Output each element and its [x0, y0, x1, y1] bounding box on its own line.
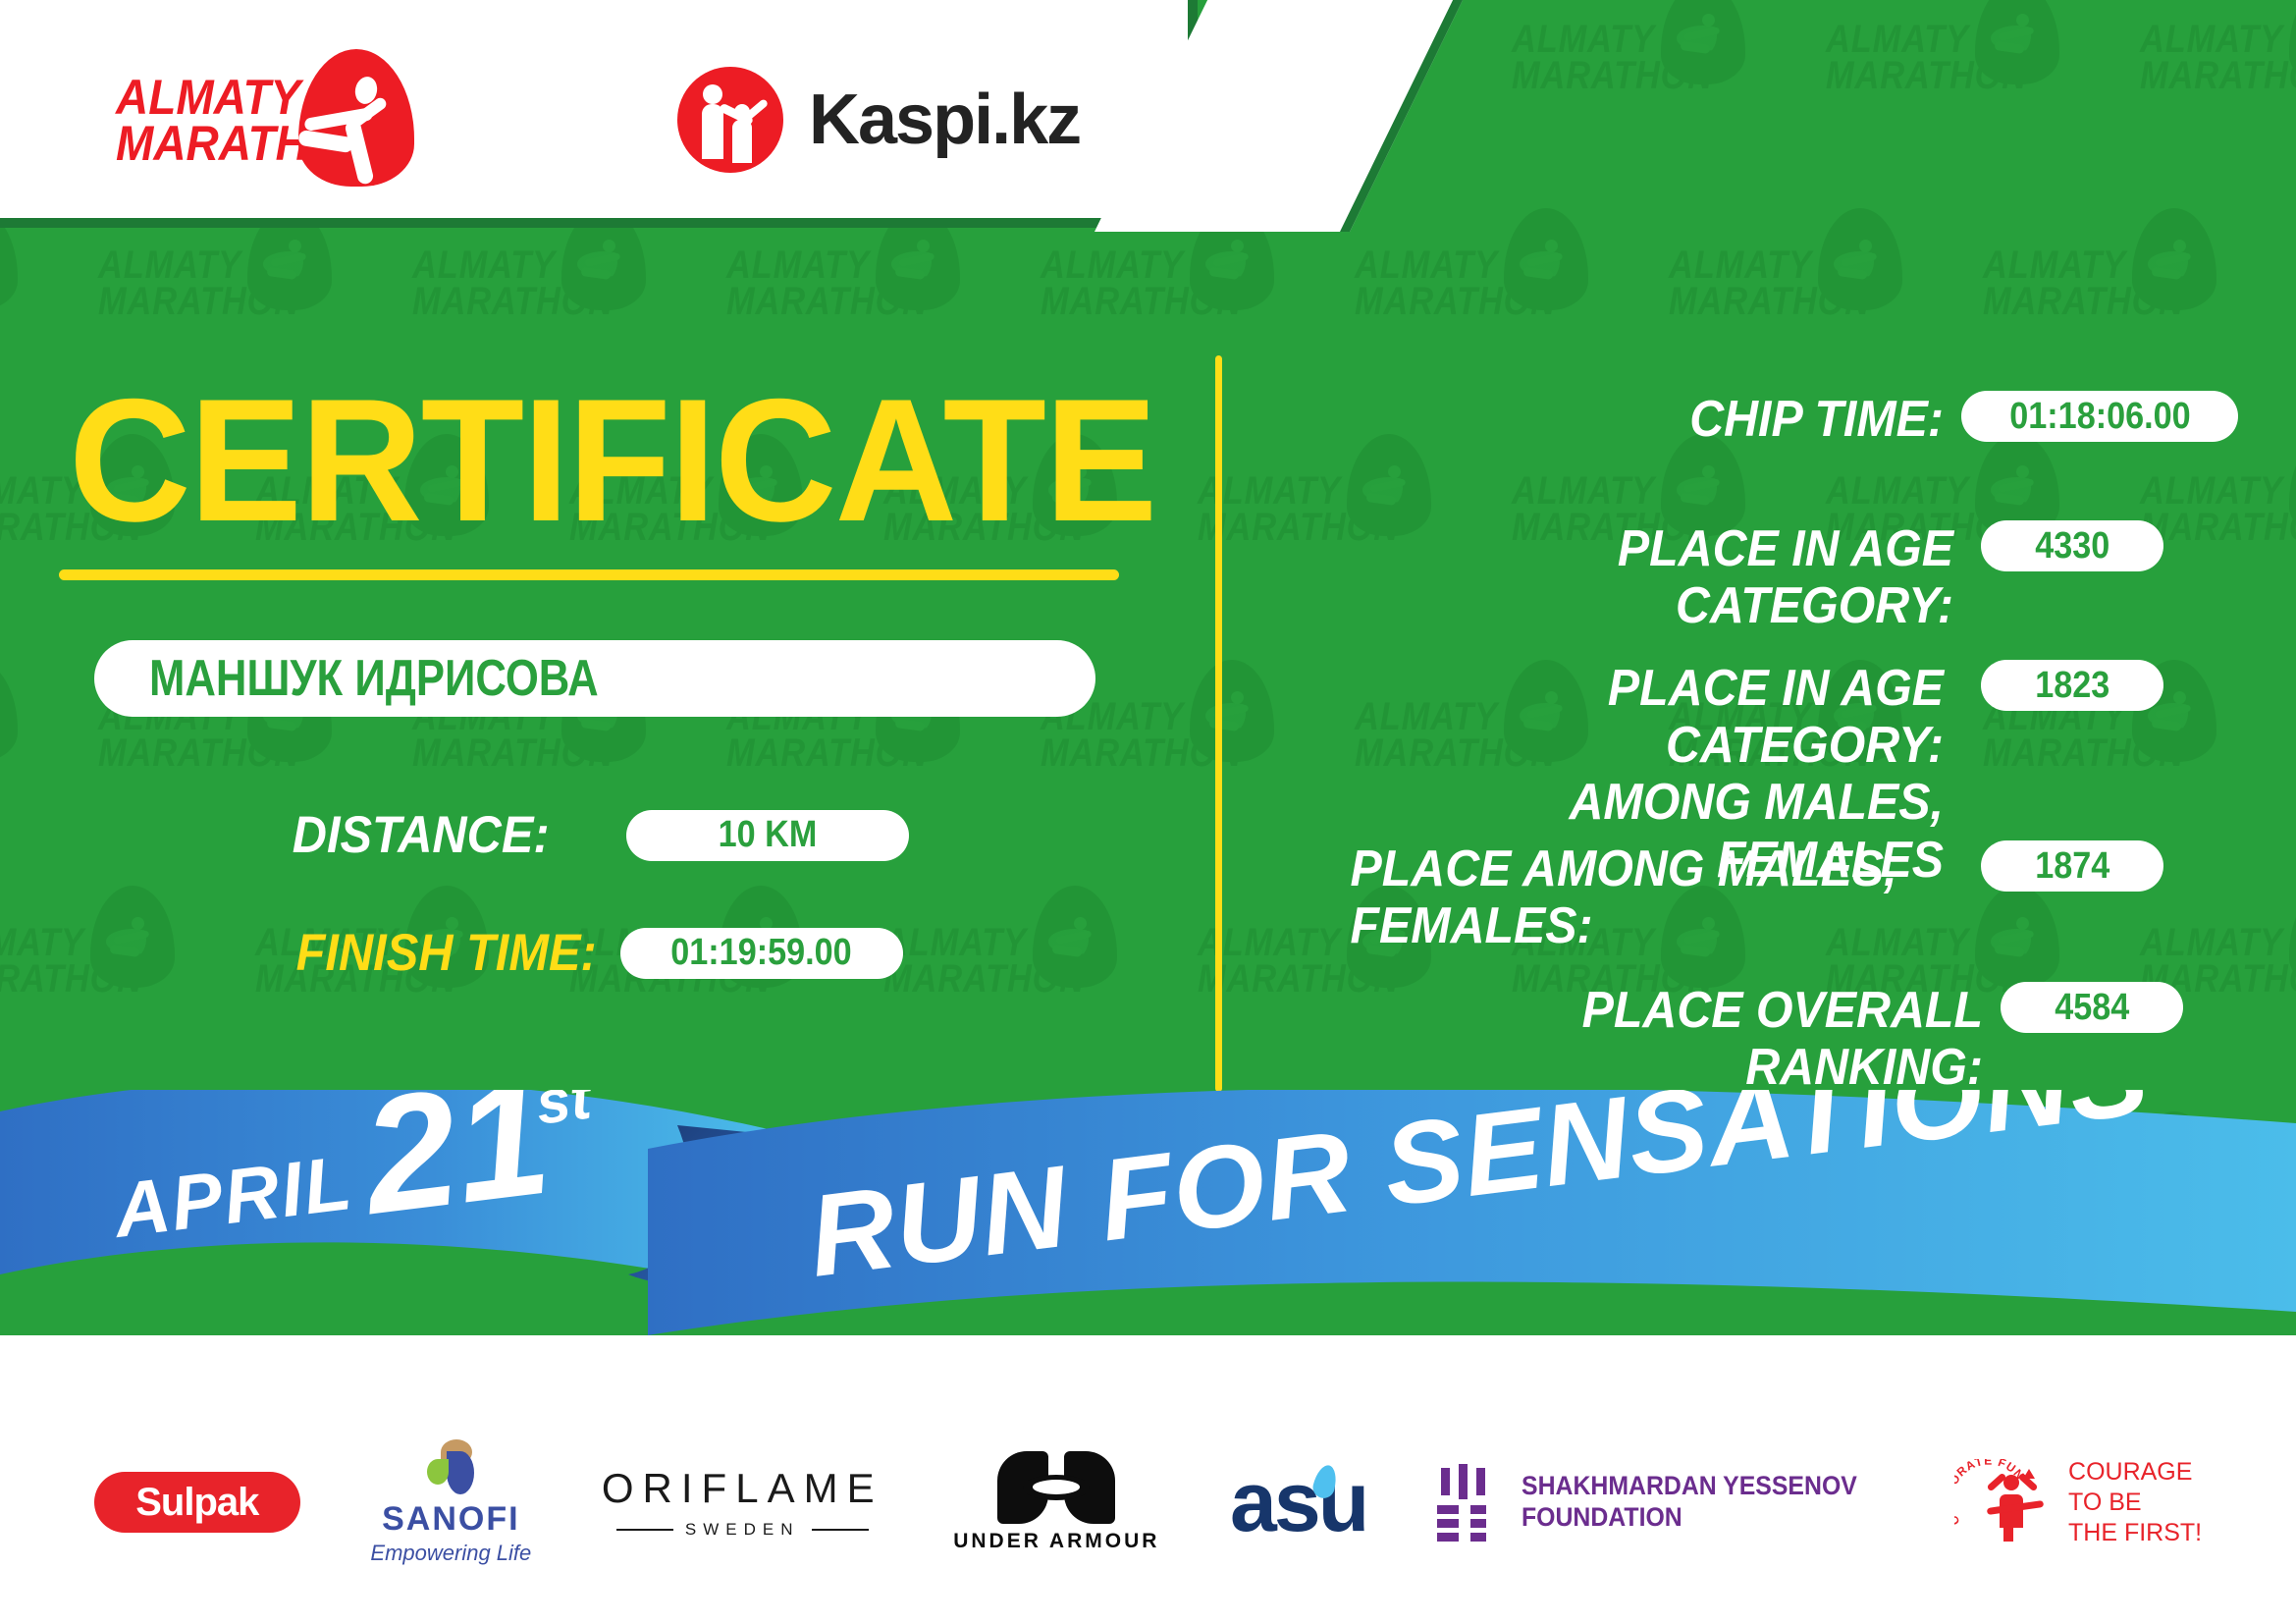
watermark-text: ALMATYMARATHON — [1983, 247, 2194, 320]
sanofi-wordmark: SANOFI — [382, 1500, 519, 1539]
sulpak-logo: Sulpak — [94, 1472, 300, 1533]
result-label: CHIP TIME: — [1351, 391, 1945, 448]
participant-name: МАНШУК ИДРИСОВА — [149, 649, 599, 708]
courage-runner-icon: CORPORATE FUND — [1956, 1455, 2051, 1549]
sponsor-oriflame: ORIFLAME SWEDEN — [602, 1465, 883, 1540]
participant-name-field: МАНШУК ИДРИСОВА — [94, 640, 1095, 717]
kaspi-wordmark: Kaspi.kz — [809, 80, 1080, 160]
watermark-tile: ALMATYMARATHON — [0, 638, 98, 864]
watermark-teardrop-icon — [0, 660, 18, 762]
courage-fund-logo: CORPORATE FUND COURAGE TO BE THE FIRST! — [1956, 1455, 2202, 1549]
watermark-tile: ALMATYMARATHON — [1826, 0, 2140, 187]
vertical-divider — [1215, 355, 1222, 1092]
sponsor-asu: asu — [1230, 1469, 1366, 1537]
watermark-text: ALMATYMARATHON — [1041, 247, 1252, 320]
result-label: PLACE OVERALL RANKING: — [1353, 982, 1983, 1096]
watermark-teardrop-icon — [1975, 0, 2059, 84]
sponsor-courage-to-be-the-first: CORPORATE FUND COURAGE TO BE THE FIRST! — [1956, 1455, 2202, 1549]
watermark-teardrop-icon — [1661, 0, 1745, 84]
watermark-runner-icon — [1836, 238, 1885, 293]
result-row-place-among-gender: PLACE AMONG MALES, FEMALES: 1874 — [1306, 840, 2163, 954]
watermark-runner-icon — [1522, 238, 1571, 293]
watermark-runner-icon — [265, 238, 314, 293]
watermark-tile: ALMATYMARATHON — [1355, 187, 1669, 412]
page-title: CERTIFICATE — [69, 373, 1155, 548]
courage-figure-icon — [1986, 1469, 2045, 1540]
result-value: 01:18:06.00 — [2009, 396, 2190, 438]
watermark-teardrop-icon — [2289, 886, 2296, 988]
watermark-text: ALMATYMARATHON — [0, 925, 152, 998]
watermark-teardrop-icon — [1190, 660, 1274, 762]
result-value: 1823 — [2035, 665, 2109, 707]
watermark-teardrop-icon — [2289, 0, 2296, 84]
svg-text:21: 21 — [351, 1090, 559, 1249]
rule-left — [616, 1529, 673, 1531]
yessenov-wordmark: SHAKHMARDAN YESSENOV FOUNDATION — [1522, 1471, 1857, 1534]
watermark-runner-icon — [1679, 463, 1728, 518]
sanofi-tagline: Empowering Life — [370, 1541, 531, 1566]
watermark-runner-icon — [2150, 238, 2199, 293]
result-value: 4330 — [2035, 525, 2109, 568]
watermark-teardrop-icon — [2132, 208, 2216, 310]
watermark-runner-icon — [1207, 238, 1256, 293]
watermark-tile: ALMATYMARATHON — [2140, 0, 2296, 187]
watermark-teardrop-icon — [1818, 208, 1902, 310]
sponsor-strip: Sulpak SANOFI Empowering Life ORIFLAME S… — [0, 1404, 2296, 1600]
sponsor-sulpak: Sulpak — [94, 1472, 300, 1533]
distance-row: DISTANCE: 10 KM — [270, 805, 909, 865]
result-value-pill: 4330 — [1981, 520, 2163, 571]
watermark-teardrop-icon — [1504, 208, 1588, 310]
finish-time-row: FINISH TIME: 01:19:59.00 — [270, 923, 903, 983]
watermark-text: ALMATYMARATHON — [1826, 22, 2037, 94]
runner-icon — [308, 77, 406, 185]
result-row-chip-time: CHIP TIME: 01:18:06.00 — [1306, 391, 2238, 448]
watermark-runner-icon — [1364, 463, 1414, 518]
finish-time-label: FINISH TIME: — [296, 923, 597, 983]
watermark-text: ALMATYMARATHON — [1512, 22, 1723, 94]
header-content: ALMATY MARATHON Kaspi.kz — [0, 0, 1237, 228]
watermark-text: ALMATYMARATHON — [98, 247, 309, 320]
under-armour-wordmark: UNDER ARMOUR — [953, 1530, 1159, 1553]
oriflame-tagline: SWEDEN — [685, 1520, 800, 1540]
watermark-tile: ALMATYMARATHON — [1512, 0, 1826, 187]
oriflame-wordmark: ORIFLAME — [602, 1465, 883, 1512]
result-value-pill: 1874 — [1981, 840, 2163, 892]
result-value: 4584 — [2055, 987, 2129, 1029]
sponsor-sanofi: SANOFI Empowering Life — [370, 1439, 531, 1566]
watermark-runner-icon — [1993, 12, 2042, 67]
watermark-text: ALMATYMARATHON — [412, 247, 623, 320]
certificate-page: ALMATYMARATHONALMATYMARATHONALMATYMARATH… — [0, 0, 2296, 1624]
watermark-tile: ALMATYMARATHON — [0, 864, 255, 1090]
event-ribbon: APRIL 21 st RUN FOR SENSATIONS — [0, 1090, 2296, 1394]
under-armour-icon — [997, 1451, 1115, 1524]
watermark-teardrop-icon — [2289, 434, 2296, 536]
kaspi-people-icon — [677, 67, 783, 173]
result-row-place-age-category: PLACE IN AGE CATEGORY: 4330 — [1306, 520, 2163, 634]
asu-wordmark: asu — [1230, 1469, 1366, 1537]
watermark-tile: ALMATYMARATHON — [1983, 187, 2296, 412]
almaty-marathon-logo: ALMATY MARATHON — [116, 47, 430, 194]
sanofi-mark-icon — [419, 1439, 482, 1496]
watermark-runner-icon — [893, 238, 942, 293]
rule-right — [812, 1529, 869, 1531]
watermark-text: ALMATYMARATHON — [1669, 247, 1880, 320]
result-label: PLACE IN AGE CATEGORY: — [1351, 520, 1953, 634]
title-underline — [59, 569, 1119, 580]
result-value-pill: 1823 — [1981, 660, 2163, 711]
courage-tagline: COURAGE TO BE THE FIRST! — [2068, 1457, 2202, 1548]
distance-label: DISTANCE: — [293, 805, 550, 865]
result-row-place-overall: PLACE OVERALL RANKING: 4584 — [1306, 982, 2183, 1096]
watermark-text: ALMATYMARATHON — [1355, 247, 1566, 320]
distance-value-pill: 10 KM — [626, 810, 909, 861]
svg-text:st: st — [532, 1090, 596, 1138]
watermark-text: ALMATYMARATHON — [883, 925, 1095, 998]
result-value: 1874 — [2035, 845, 2109, 888]
oriflame-subline: SWEDEN — [616, 1520, 869, 1540]
watermark-runner-icon — [1679, 12, 1728, 67]
asu-logo: asu — [1230, 1469, 1366, 1537]
yessenov-foundation-logo: SHAKHMARDAN YESSENOV FOUNDATION — [1437, 1464, 1887, 1541]
watermark-tile: ALMATYMARATHON — [1669, 187, 1983, 412]
result-label: PLACE AMONG MALES, FEMALES: — [1351, 840, 1945, 954]
oriflame-logo: ORIFLAME SWEDEN — [602, 1465, 883, 1540]
distance-value: 10 KM — [718, 814, 817, 856]
sponsor-under-armour: UNDER ARMOUR — [953, 1451, 1159, 1553]
kaspi-logo: Kaspi.kz — [677, 61, 1080, 179]
watermark-runner-icon — [1993, 463, 2042, 518]
finish-time-value: 01:19:59.00 — [670, 932, 851, 974]
watermark-text: ALMATYMARATHON — [726, 247, 937, 320]
watermark-runner-icon — [108, 915, 157, 970]
watermark-tile: ALMATYMARATHON — [883, 864, 1198, 1090]
result-value-pill: 4584 — [2001, 982, 2183, 1033]
yessenov-bars-icon — [1437, 1464, 1498, 1541]
result-value-pill: 01:18:06.00 — [1961, 391, 2238, 442]
finish-time-value-pill: 01:19:59.00 — [620, 928, 903, 979]
watermark-teardrop-icon — [1033, 886, 1117, 988]
watermark-text: ALMATYMARATHON — [2140, 22, 2296, 94]
under-armour-logo: UNDER ARMOUR — [953, 1451, 1159, 1553]
watermark-teardrop-icon — [90, 886, 175, 988]
watermark-runner-icon — [579, 238, 628, 293]
watermark-runner-icon — [1050, 915, 1099, 970]
sponsor-shakhmardan-yessenov-foundation: SHAKHMARDAN YESSENOV FOUNDATION — [1437, 1464, 1887, 1541]
sanofi-logo: SANOFI Empowering Life — [370, 1439, 531, 1566]
